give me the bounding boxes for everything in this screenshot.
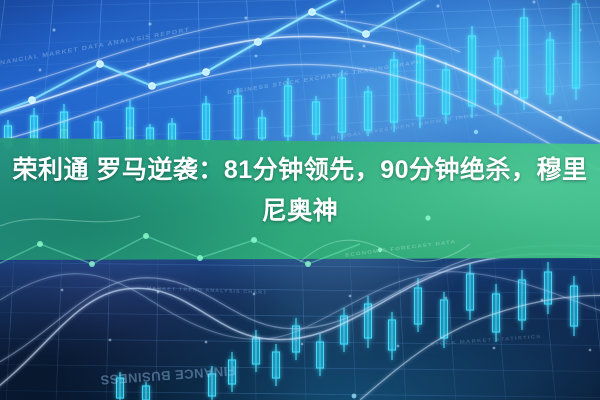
vignette-overlay <box>0 0 600 400</box>
banner-image: FINANCIAL MARKET DATA ANALYSIS REPORT BU… <box>0 0 600 400</box>
